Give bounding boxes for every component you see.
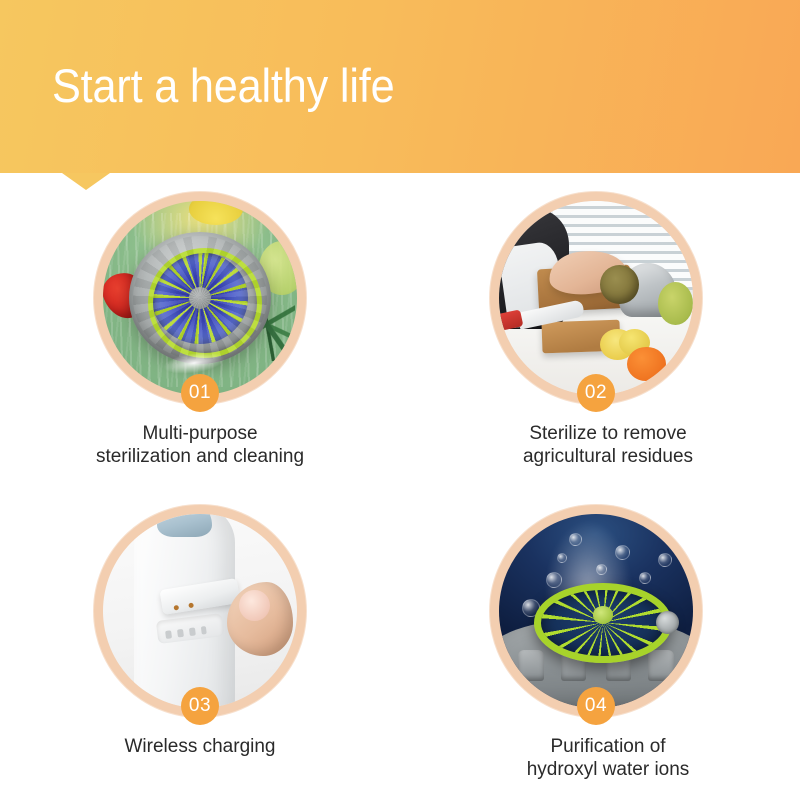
device-uv-core: [152, 252, 248, 344]
feature-badge-01: 01: [181, 374, 219, 412]
lemon-icon: [189, 201, 243, 225]
feature-photo-03: [94, 505, 306, 717]
kiwi-icon: [600, 265, 639, 304]
photo-image-sterilization: [103, 201, 297, 395]
feature-photo-01: [94, 192, 306, 404]
feature-card-01[interactable]: 01 Multi-purpose sterilization and clean…: [0, 179, 400, 492]
bubble: [557, 553, 567, 563]
feature-photo-02: [490, 192, 702, 404]
port-slot: [201, 626, 208, 635]
feature-card-03[interactable]: 03 Wireless charging: [0, 492, 400, 805]
fingernail: [239, 590, 270, 621]
bubble: [639, 572, 651, 584]
caption-line-2: sterilization and cleaning: [24, 445, 376, 468]
feature-card-02[interactable]: 02 Sterilize to remove agricultural resi…: [400, 179, 800, 492]
page-title: Start a healthy life: [52, 58, 394, 114]
feature-caption-02: Sterilize to remove agricultural residue…: [408, 422, 800, 468]
device-green-rim: [148, 248, 262, 358]
bubble: [658, 553, 672, 567]
caption-line-1: Purification of: [432, 735, 784, 758]
base-tab: [518, 650, 543, 681]
feature-photo-04: [490, 505, 702, 717]
caption-line-1: Wireless charging: [24, 735, 376, 758]
feature-badge-02: 02: [577, 374, 615, 412]
photo-image-charging: [103, 514, 297, 708]
pear-icon: [658, 282, 693, 325]
pin-contact: [189, 603, 195, 609]
feature-grid: 01 Multi-purpose sterilization and clean…: [0, 173, 800, 800]
photo-image-kitchen: [499, 201, 693, 395]
caption-line-1: Sterilize to remove: [432, 422, 784, 445]
caption-line-2: agricultural residues: [432, 445, 784, 468]
pin-contact: [174, 605, 180, 611]
device-blue-cap: [157, 514, 211, 537]
feature-badge-04: 04: [577, 687, 615, 725]
feature-caption-04: Purification of hydroxyl water ions: [408, 735, 800, 781]
orange-icon: [627, 347, 666, 382]
device-body: [129, 232, 271, 364]
port-slot: [189, 627, 196, 636]
bubble: [546, 572, 562, 588]
feature-card-04[interactable]: 04 Purification of hydroxyl water ions: [400, 492, 800, 805]
photo-image-purification: [499, 514, 693, 708]
feature-badge-03: 03: [181, 687, 219, 725]
caption-line-2: hydroxyl water ions: [432, 758, 784, 781]
feature-caption-03: Wireless charging: [0, 735, 400, 758]
caption-line-1: Multi-purpose: [24, 422, 376, 445]
port-slot: [165, 630, 172, 639]
green-blade-wheel: [534, 583, 672, 663]
port-slot: [177, 628, 184, 637]
feature-caption-01: Multi-purpose sterilization and cleaning: [0, 422, 400, 468]
header-banner: Start a healthy life: [0, 0, 800, 173]
